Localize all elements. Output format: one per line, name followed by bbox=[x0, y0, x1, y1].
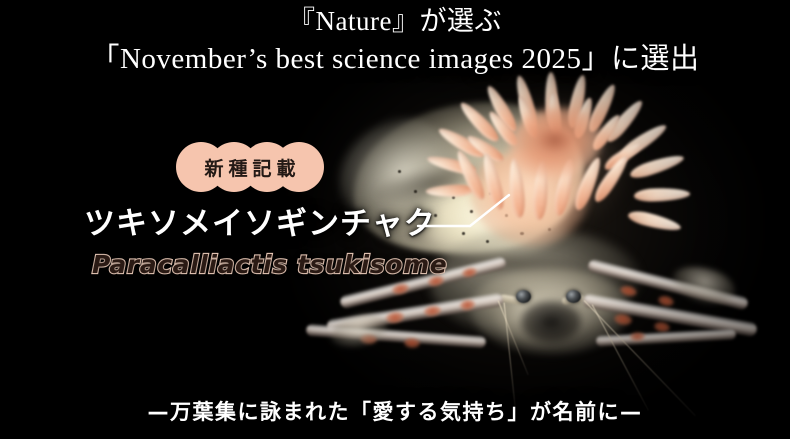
infographic-canvas: 『Nature』が選ぶ 「November’s best science ima… bbox=[0, 0, 790, 439]
leader-line bbox=[0, 0, 790, 439]
leader-line-path bbox=[418, 195, 509, 226]
